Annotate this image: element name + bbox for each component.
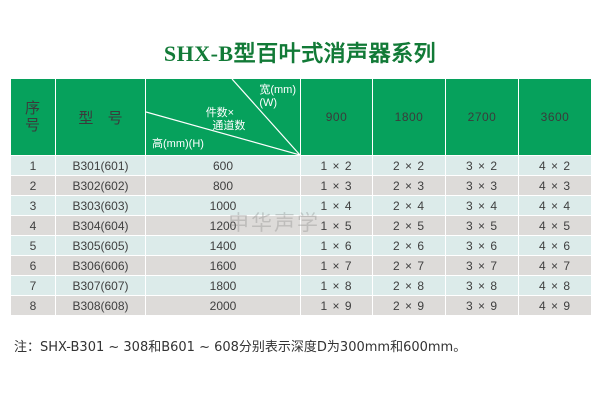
cell-height: 1600 <box>146 256 300 275</box>
header-width-2700: 2700 <box>446 79 518 155</box>
cell-value: 3 × 2 <box>446 156 518 175</box>
cell-value: 2 × 8 <box>373 276 445 295</box>
header-count-label: 件数× 通道数 <box>194 107 245 133</box>
table-row: 4B304(604)12001 × 52 × 53 × 54 × 5 <box>11 216 591 235</box>
cell-no: 2 <box>11 176 55 195</box>
header-width-900: 900 <box>301 79 372 155</box>
cell-height: 800 <box>146 176 300 195</box>
table-row: 3B303(603)10001 × 42 × 43 × 44 × 4 <box>11 196 591 215</box>
header-height-label: 高(mm)(H) <box>152 138 204 151</box>
cell-height: 600 <box>146 156 300 175</box>
header-width-1800: 1800 <box>373 79 445 155</box>
table-row: 5B305(605)14001 × 62 × 63 × 64 × 6 <box>11 236 591 255</box>
header-count-label-line1: 件数× <box>194 107 245 120</box>
cell-value: 2 × 5 <box>373 216 445 235</box>
cell-value: 4 × 3 <box>519 176 591 195</box>
cell-value: 3 × 9 <box>446 296 518 315</box>
spec-table: 序 号 型 号 宽(mm) (W) <box>10 78 592 316</box>
cell-model: B308(608) <box>56 296 145 315</box>
cell-height: 1200 <box>146 216 300 235</box>
table-row: 8B308(608)20001 × 92 × 93 × 94 × 9 <box>11 296 591 315</box>
cell-value: 1 × 8 <box>301 276 372 295</box>
cell-value: 2 × 6 <box>373 236 445 255</box>
cell-no: 6 <box>11 256 55 275</box>
footnote: 注：SHX-B301 ~ 308和B601 ~ 608分别表示深度D为300mm… <box>14 336 466 355</box>
cell-value: 4 × 5 <box>519 216 591 235</box>
cell-value: 1 × 9 <box>301 296 372 315</box>
cell-value: 1 × 3 <box>301 176 372 195</box>
header-col-no-line2: 号 <box>11 117 55 134</box>
spec-table-container: 序 号 型 号 宽(mm) (W) <box>10 78 590 316</box>
cell-value: 4 × 9 <box>519 296 591 315</box>
cell-value: 4 × 2 <box>519 156 591 175</box>
table-body: 1B301(601)6001 × 22 × 23 × 24 × 22B302(6… <box>11 156 591 315</box>
cell-no: 7 <box>11 276 55 295</box>
cell-value: 2 × 9 <box>373 296 445 315</box>
cell-height: 1000 <box>146 196 300 215</box>
cell-value: 1 × 4 <box>301 196 372 215</box>
table-row: 7B307(607)18001 × 82 × 83 × 84 × 8 <box>11 276 591 295</box>
header-col-model-label: 型 号 <box>73 110 127 127</box>
cell-model: B302(602) <box>56 176 145 195</box>
cell-value: 1 × 6 <box>301 236 372 255</box>
cell-value: 3 × 6 <box>446 236 518 255</box>
cell-model: B301(601) <box>56 156 145 175</box>
header-split-cell: 宽(mm) (W) 件数× 通道数 高(mm)(H) <box>146 79 300 155</box>
header-width-label-line2: (W) <box>259 97 296 110</box>
cell-value: 4 × 6 <box>519 236 591 255</box>
cell-value: 2 × 7 <box>373 256 445 275</box>
table-row: 6B306(606)16001 × 72 × 73 × 74 × 7 <box>11 256 591 275</box>
cell-no: 3 <box>11 196 55 215</box>
cell-value: 3 × 5 <box>446 216 518 235</box>
cell-model: B303(603) <box>56 196 145 215</box>
header-row: 序 号 型 号 宽(mm) (W) <box>11 79 591 155</box>
page-title: SHX-B型百叶式消声器系列 <box>0 36 600 68</box>
cell-no: 4 <box>11 216 55 235</box>
cell-value: 1 × 7 <box>301 256 372 275</box>
cell-height: 1800 <box>146 276 300 295</box>
cell-value: 2 × 2 <box>373 156 445 175</box>
cell-value: 4 × 4 <box>519 196 591 215</box>
cell-value: 3 × 8 <box>446 276 518 295</box>
table-header: 序 号 型 号 宽(mm) (W) <box>11 79 591 155</box>
cell-model: B306(606) <box>56 256 145 275</box>
table-row: 2B302(602)8001 × 32 × 33 × 34 × 3 <box>11 176 591 195</box>
header-width-3600: 3600 <box>519 79 591 155</box>
cell-model: B305(605) <box>56 236 145 255</box>
page-root: SHX-B型百叶式消声器系列 申华声学 序 号 型 <box>0 0 600 400</box>
cell-model: B307(607) <box>56 276 145 295</box>
cell-value: 3 × 3 <box>446 176 518 195</box>
cell-value: 3 × 4 <box>446 196 518 215</box>
cell-value: 3 × 7 <box>446 256 518 275</box>
cell-value: 1 × 2 <box>301 156 372 175</box>
cell-height: 2000 <box>146 296 300 315</box>
cell-height: 1400 <box>146 236 300 255</box>
cell-model: B304(604) <box>56 216 145 235</box>
cell-value: 2 × 4 <box>373 196 445 215</box>
cell-value: 4 × 7 <box>519 256 591 275</box>
header-col-no-line1: 序 <box>11 100 55 117</box>
cell-no: 5 <box>11 236 55 255</box>
header-width-label: 宽(mm) (W) <box>259 84 296 110</box>
cell-no: 1 <box>11 156 55 175</box>
header-col-model: 型 号 <box>56 79 145 155</box>
header-col-no: 序 号 <box>11 79 55 155</box>
header-count-label-line2: 通道数 <box>194 120 245 133</box>
header-width-label-line1: 宽(mm) <box>259 84 296 97</box>
table-row: 1B301(601)6001 × 22 × 23 × 24 × 2 <box>11 156 591 175</box>
cell-no: 8 <box>11 296 55 315</box>
cell-value: 4 × 8 <box>519 276 591 295</box>
cell-value: 2 × 3 <box>373 176 445 195</box>
cell-value: 1 × 5 <box>301 216 372 235</box>
